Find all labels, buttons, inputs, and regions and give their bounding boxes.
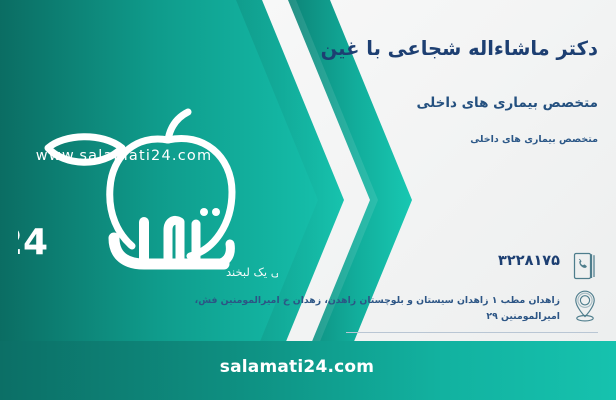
phone-book-icon <box>568 248 602 284</box>
doctor-specialty-primary: متخصص بیماری های داخلی <box>168 95 598 111</box>
doctor-specialty-secondary: متخصص بیماری های داخلی <box>168 134 598 145</box>
logo-word-dot-2 <box>212 208 220 216</box>
logo-word-dot-1 <box>200 208 208 216</box>
business-card: 24 به راحتی یک لبخند www.salamati24.com … <box>0 0 616 400</box>
contact-divider <box>346 332 598 333</box>
address-row[interactable]: زاهدان مطب ۱ زاهدان سیستان و بلوچستان زا… <box>176 288 606 326</box>
footer-bar: salamati24.com <box>0 341 616 400</box>
logo-24-badge: 24 <box>18 222 48 263</box>
clinic-address: زاهدان مطب ۱ زاهدان سیستان و بلوچستان زا… <box>176 288 560 326</box>
doctor-name: دکتر ماشاءاله شجاعی با غین <box>168 36 598 62</box>
logo-24-text: 24 <box>18 222 48 263</box>
footer-website-text: salamati24.com <box>220 357 396 377</box>
phone-number: ۳۲۲۸۱۷۵ <box>176 248 560 269</box>
map-pin-icon <box>568 288 602 324</box>
footer-website[interactable]: salamati24.com <box>0 357 616 377</box>
phone-row[interactable]: ۳۲۲۸۱۷۵ <box>176 248 606 284</box>
apple-leaf <box>48 137 122 163</box>
